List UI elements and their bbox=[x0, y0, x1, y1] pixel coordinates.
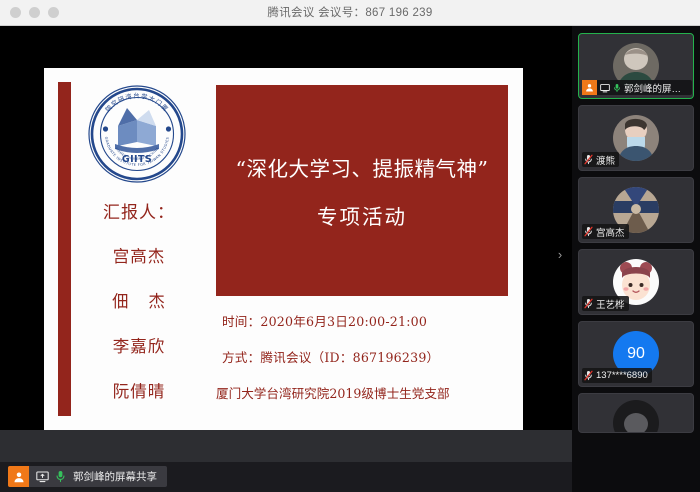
slide-meta-method: 方式：腾讯会议（ID：867196239） bbox=[216, 347, 512, 366]
slide-accent-bar bbox=[58, 82, 71, 416]
participant-name: 王艺桦 bbox=[596, 297, 625, 311]
participant-name: 郭剑峰的屏幕... bbox=[624, 81, 688, 95]
participant-tile[interactable]: 渡熊 bbox=[578, 105, 694, 171]
mic-on-icon bbox=[55, 470, 66, 483]
participant-name: 宫高杰 bbox=[596, 225, 625, 239]
reporter-name: 阮倩晴 bbox=[74, 378, 204, 402]
participant-rail[interactable]: 郭剑峰的屏幕... 渡熊 bbox=[572, 26, 700, 492]
slide-meta-time: 时间：2020年6月3日20:00-21:00 bbox=[216, 311, 512, 330]
host-person-icon bbox=[582, 80, 597, 95]
share-pill-icons bbox=[29, 470, 73, 483]
slide-meta-block: 时间：2020年6月3日20:00-21:00 方式：腾讯会议（ID：86719… bbox=[216, 311, 512, 402]
participant-tile[interactable]: 90 137****6890 bbox=[578, 321, 694, 387]
participant-tile[interactable]: 王艺桦 bbox=[578, 249, 694, 315]
avatar bbox=[613, 400, 659, 433]
reporter-block: 汇报人： 宫高杰 佃 杰 李嘉欣 阮倩晴 bbox=[74, 198, 204, 423]
window-controls bbox=[0, 7, 59, 18]
slide-title-primary: “深化大学习、提振精气神” bbox=[236, 152, 489, 182]
window-title: 腾讯会议 会议号：867 196 239 bbox=[0, 0, 700, 26]
participant-label: 宫高杰 bbox=[582, 224, 629, 239]
participant-label: 渡熊 bbox=[582, 152, 619, 167]
participant-name: 137****6890 bbox=[596, 370, 648, 381]
mic-muted-icon bbox=[584, 226, 593, 237]
window-titlebar: 腾讯会议 会议号：867 196 239 bbox=[0, 0, 700, 26]
reporter-name: 李嘉欣 bbox=[74, 333, 204, 357]
collapse-panel-chevron-icon[interactable]: › bbox=[554, 244, 566, 266]
presentation-slide: GIITS 院究研湾台学大门厦 GRADUATE INSTITUTE FOR T… bbox=[44, 68, 523, 430]
share-owner-label: 郭剑峰的屏幕共享 bbox=[73, 469, 167, 484]
giits-seal-logo: GIITS 院究研湾台学大门厦 GRADUATE INSTITUTE FOR T… bbox=[85, 82, 189, 186]
mic-muted-icon bbox=[584, 154, 593, 165]
shared-screen-canvas: GIITS 院究研湾台学大门厦 GRADUATE INSTITUTE FOR T… bbox=[0, 26, 572, 430]
avatar-initials: 90 bbox=[627, 345, 645, 363]
slide-title-box: “深化大学习、提振精气神” 专项活动 bbox=[216, 85, 508, 296]
reporter-name: 佃 杰 bbox=[74, 288, 204, 312]
host-person-icon bbox=[8, 466, 29, 487]
participant-name: 渡熊 bbox=[596, 153, 615, 167]
slide-meta-org: 厦门大学台湾研究院2019级博士生党支部 bbox=[216, 383, 512, 402]
tencent-meeting-window: 腾讯会议 会议号：867 196 239 bbox=[0, 0, 700, 492]
bottom-share-bar: 郭剑峰的屏幕共享 bbox=[0, 462, 572, 492]
screen-share-stage: GIITS 院究研湾台学大门厦 GRADUATE INSTITUTE FOR T… bbox=[0, 26, 572, 466]
participant-label: 王艺桦 bbox=[582, 296, 629, 311]
screen-share-icon bbox=[600, 83, 610, 93]
screen-share-icon bbox=[36, 470, 49, 483]
zoom-button[interactable] bbox=[48, 7, 59, 18]
reporter-label: 汇报人： bbox=[74, 198, 204, 223]
participant-tile[interactable]: 宫高杰 bbox=[578, 177, 694, 243]
participant-tile[interactable]: 郭剑峰的屏幕... bbox=[578, 33, 694, 99]
close-button[interactable] bbox=[10, 7, 21, 18]
avatar bbox=[613, 115, 659, 161]
mic-muted-icon bbox=[584, 298, 593, 309]
slide-title-secondary: 专项活动 bbox=[317, 200, 407, 230]
mic-on-icon bbox=[613, 83, 621, 93]
reporter-name: 宫高杰 bbox=[74, 243, 204, 267]
participant-label: 137****6890 bbox=[582, 368, 652, 383]
mic-muted-icon bbox=[584, 370, 593, 381]
minimize-button[interactable] bbox=[29, 7, 40, 18]
participant-label: 郭剑峰的屏幕... bbox=[582, 80, 692, 95]
participant-tile[interactable] bbox=[578, 393, 694, 433]
share-status-pill: 郭剑峰的屏幕共享 bbox=[8, 466, 167, 487]
